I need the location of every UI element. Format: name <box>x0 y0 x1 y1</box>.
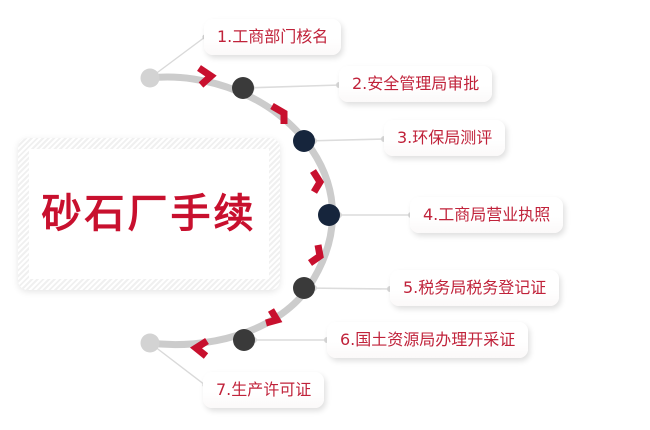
center-title-card: 砂石厂手续 <box>18 138 280 290</box>
step-label-3[interactable]: 3.环保局测评 <box>384 120 505 156</box>
flow-node-step-3[interactable] <box>293 130 315 152</box>
step-label-5-text: 5.税务局税务登记证 <box>403 280 546 296</box>
flow-node-start[interactable] <box>141 69 160 88</box>
chevron-arrow-6 <box>196 341 207 356</box>
step-label-3-text: 3.环保局测评 <box>397 130 492 146</box>
step-label-7[interactable]: 7.生产许可证 <box>203 372 324 408</box>
page-title: 砂石厂手续 <box>42 194 257 234</box>
step-label-4[interactable]: 4.工商局营业执照 <box>410 197 563 233</box>
connector-step-5 <box>305 288 391 289</box>
step-label-4-text: 4.工商局营业执照 <box>423 207 550 223</box>
connector-step-2 <box>243 85 340 88</box>
step-label-2-text: 2.安全管理局审批 <box>352 76 479 92</box>
connector-step-3 <box>305 139 385 141</box>
leader-line-step-1 <box>150 37 205 78</box>
step-label-7-text: 7.生产许可证 <box>216 382 311 398</box>
flow-node-step-5[interactable] <box>293 277 315 299</box>
step-label-1-text: 1.工商部门核名 <box>217 29 328 45</box>
flow-node-end[interactable] <box>141 334 160 353</box>
infographic-canvas: 砂石厂手续 1.工商部门核名 2.安全管理局审批 3.环保局测评 4.工商局营业… <box>0 0 650 430</box>
chevron-arrow-3 <box>313 171 320 192</box>
step-label-2[interactable]: 2.安全管理局审批 <box>339 66 492 102</box>
step-label-1[interactable]: 1.工商部门核名 <box>204 19 341 55</box>
chevron-arrow-5 <box>266 310 277 323</box>
chevron-arrow-4 <box>310 245 320 263</box>
flow-node-step-4[interactable] <box>318 204 340 226</box>
step-label-5[interactable]: 5.税务局税务登记证 <box>390 270 559 306</box>
center-title-card-inner: 砂石厂手续 <box>29 149 269 279</box>
flow-node-step-2[interactable] <box>232 77 254 99</box>
flow-node-step-6[interactable] <box>233 329 255 351</box>
step-label-6[interactable]: 6.国土资源局办理开采证 <box>327 322 528 358</box>
step-label-6-text: 6.国土资源局办理开采证 <box>340 332 515 348</box>
